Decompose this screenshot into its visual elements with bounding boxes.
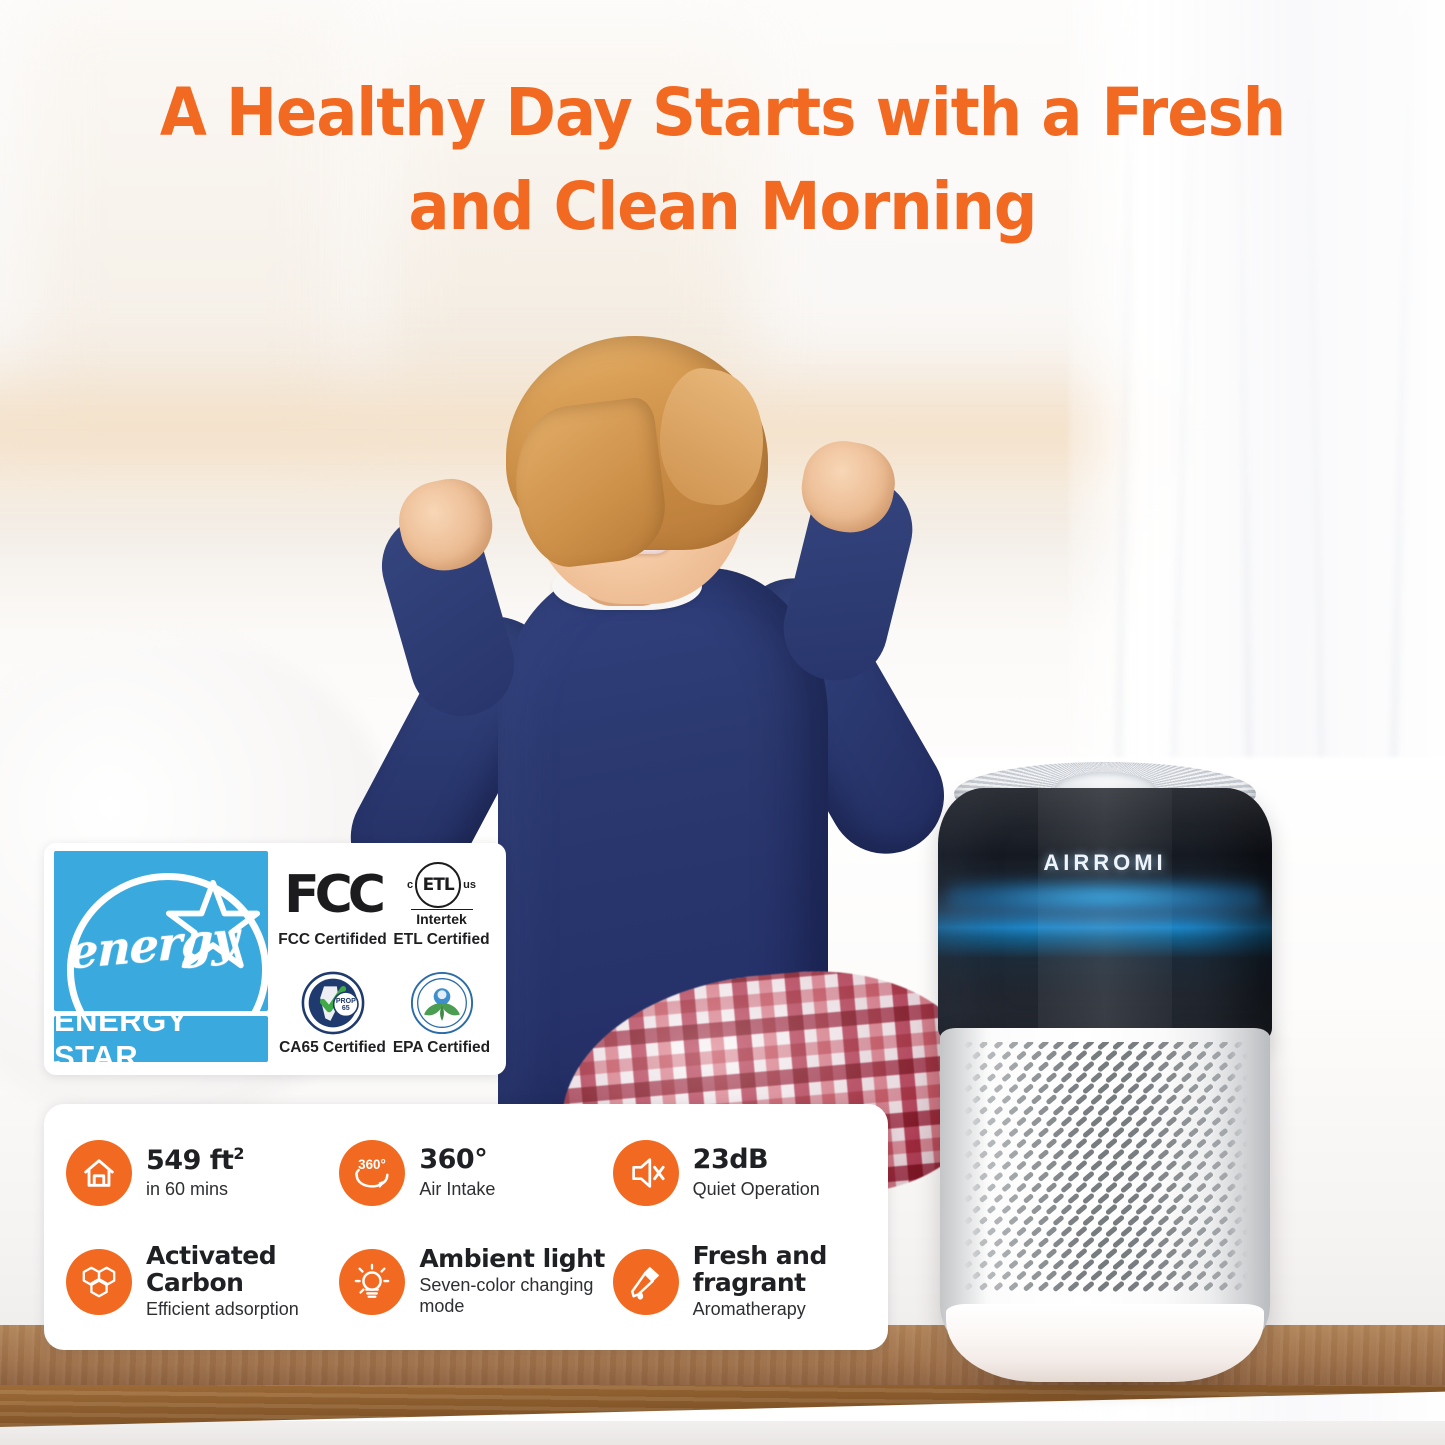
purifier-vent-slot bbox=[1045, 1094, 1057, 1105]
purifier-vent-slot bbox=[1082, 1280, 1095, 1292]
purifier-vent-slot bbox=[1097, 1148, 1110, 1160]
purifier-vent-slot bbox=[1112, 1214, 1125, 1226]
purifier-vent-slot bbox=[1234, 1040, 1243, 1049]
purifier-vent-slot bbox=[1045, 1072, 1057, 1083]
purifier-vent-slot bbox=[1180, 1116, 1192, 1127]
cert-item-epa: EPA Certified bbox=[387, 959, 496, 1067]
prop65-icon: PROP 65 bbox=[301, 970, 365, 1036]
purifier-vent-slot bbox=[1089, 1115, 1102, 1127]
purifier-vent-slot bbox=[1127, 1192, 1140, 1204]
purifier-vent-slot bbox=[979, 1128, 988, 1137]
purifier-vent-slot bbox=[1015, 1182, 1026, 1193]
purifier-vent-slot bbox=[1241, 1227, 1250, 1236]
purifier-vent-slot bbox=[1127, 1104, 1140, 1116]
purifier-vent-slot bbox=[1195, 1204, 1206, 1215]
purifier-vent-slot bbox=[979, 1238, 988, 1247]
purifier-vent-row bbox=[962, 1240, 1248, 1249]
purifier-vent-slot bbox=[1112, 1258, 1125, 1270]
purifier-vent-slot bbox=[1234, 1238, 1243, 1247]
purifier-vent-slot bbox=[1023, 1149, 1034, 1160]
purifier-vent-slot bbox=[1218, 1194, 1228, 1204]
purifier-vent-slot bbox=[1067, 1281, 1080, 1293]
purifier-vent-slot bbox=[1211, 1183, 1221, 1193]
purifier-vent-slot bbox=[1119, 1247, 1132, 1259]
purifier-vent-slot bbox=[1165, 1226, 1177, 1237]
purifier-vent-slot bbox=[986, 1161, 996, 1170]
feature-title: Fresh and fragrant bbox=[693, 1243, 882, 1296]
purifier-vent-slot bbox=[1211, 1271, 1221, 1281]
purifier-vent-slot bbox=[993, 1260, 1003, 1270]
purifier-vent-slot bbox=[1241, 1249, 1250, 1258]
purifier-vent-slot bbox=[1180, 1072, 1192, 1083]
intertek-label: Intertek bbox=[411, 909, 473, 927]
purifier-vent-slot bbox=[1195, 1182, 1206, 1193]
purifier-vent-slot bbox=[1218, 1150, 1228, 1160]
purifier-vent-slot bbox=[1188, 1171, 1199, 1182]
purifier-vent-slot bbox=[1211, 1073, 1221, 1083]
purifier-vent-slot bbox=[1001, 1161, 1011, 1171]
feature-subtitle: Seven-color changing mode bbox=[419, 1275, 608, 1317]
purifier-vent-slot bbox=[1165, 1248, 1177, 1259]
purifier-vent-slot bbox=[1008, 1215, 1019, 1225]
purifier-vent-slot bbox=[1097, 1258, 1110, 1270]
purifier-vent-slot bbox=[1097, 1038, 1110, 1050]
purifier-vent-slot bbox=[1045, 1160, 1057, 1171]
purifier-vent-slot bbox=[1165, 1116, 1177, 1127]
purifier-vent-slot bbox=[1195, 1226, 1206, 1237]
energy-star-icon bbox=[165, 877, 261, 973]
purifier-vent-slot bbox=[1097, 1236, 1110, 1248]
purifier-vent-slot bbox=[1211, 1139, 1221, 1149]
feature-subtitle: Aromatherapy bbox=[693, 1299, 882, 1320]
purifier-vent-slot bbox=[1188, 1039, 1199, 1050]
purifier-vent-slot bbox=[1249, 1040, 1258, 1048]
purifier-vent-slot bbox=[1052, 1149, 1064, 1161]
purifier-vent-slot bbox=[1097, 1192, 1110, 1204]
purifier-vent-slot bbox=[1052, 1193, 1064, 1205]
purifier-vent-slot bbox=[1015, 1094, 1026, 1105]
purifier-vent-slot bbox=[1203, 1215, 1214, 1225]
dropper-icon bbox=[613, 1249, 679, 1315]
purifier-vent-slot bbox=[1234, 1282, 1243, 1291]
purifier-vent-slot bbox=[1157, 1105, 1169, 1117]
purifier-vent-slot bbox=[1045, 1270, 1057, 1281]
purifier-vent-slot bbox=[1075, 1182, 1088, 1194]
purifier-vent-slot bbox=[1104, 1203, 1117, 1215]
purifier-vent-slot bbox=[1112, 1192, 1125, 1204]
purifier-vent-slot bbox=[1082, 1170, 1095, 1182]
purifier-vent-slot bbox=[1142, 1039, 1155, 1051]
purifier-vent-slot bbox=[1067, 1039, 1080, 1051]
purifier-vent-slot bbox=[1218, 1106, 1228, 1116]
purifier-vent-slot bbox=[1249, 1150, 1258, 1158]
purifier-vent-slot bbox=[1127, 1148, 1140, 1160]
purifier-vent-slot bbox=[1089, 1203, 1102, 1215]
purifier-vent-slot bbox=[986, 1249, 996, 1258]
purifier-vent-slot bbox=[1234, 1062, 1243, 1071]
purifier-vent-slot bbox=[1249, 1260, 1258, 1268]
purifier-vent-slot bbox=[1195, 1116, 1206, 1127]
purifier-vent-slot bbox=[1188, 1149, 1199, 1160]
purifier-vent-slot bbox=[1226, 1161, 1236, 1170]
purifier-vent-slot bbox=[1038, 1259, 1050, 1270]
purifier-vent-slot bbox=[1249, 1216, 1258, 1224]
purifier-vent-slot bbox=[1142, 1127, 1155, 1139]
purifier-vent-slot bbox=[979, 1216, 988, 1225]
purifier-vent-slot bbox=[986, 1117, 996, 1126]
purifier-vent-slot bbox=[1142, 1105, 1155, 1117]
purifier-vent-slot bbox=[1211, 1161, 1221, 1171]
purifier-vent-slot bbox=[1023, 1061, 1034, 1072]
purifier-vent-slot bbox=[1226, 1117, 1236, 1126]
purifier-vent-slot bbox=[1104, 1071, 1117, 1083]
purifier-vent-slot bbox=[1211, 1117, 1221, 1127]
purifier-vent-slot bbox=[1015, 1116, 1026, 1127]
purifier-vent-slot bbox=[1082, 1192, 1095, 1204]
purifier-vent-slot bbox=[1023, 1281, 1034, 1292]
feature-subtitle: in 60 mins bbox=[146, 1179, 244, 1200]
feature-coverage-area: 549 ft2 in 60 mins bbox=[66, 1120, 335, 1225]
purifier-vent-slot bbox=[1218, 1238, 1228, 1248]
feature-360-air-intake: 360° 360° Air Intake bbox=[339, 1120, 608, 1225]
purifier-vent-slot bbox=[1234, 1172, 1243, 1181]
purifier-vent-slot bbox=[1015, 1226, 1026, 1237]
purifier-vent-slot bbox=[1173, 1171, 1185, 1182]
purifier-vent-slot bbox=[1060, 1270, 1073, 1282]
purifier-vent-slot bbox=[1249, 1084, 1258, 1092]
purifier-vent-slot bbox=[979, 1172, 988, 1181]
purifier-vent-slot bbox=[1188, 1281, 1199, 1292]
purifier-vent-slot bbox=[1067, 1193, 1080, 1205]
purifier-vent-slot bbox=[1173, 1281, 1185, 1292]
purifier-vent-slot bbox=[1157, 1237, 1169, 1249]
purifier-vent-slot bbox=[1060, 1072, 1073, 1084]
purifier-vent-slot bbox=[1038, 1105, 1050, 1116]
purifier-vent-slot bbox=[1180, 1270, 1192, 1281]
purifier-vent-row bbox=[962, 1152, 1248, 1161]
purifier-vent-slot bbox=[1180, 1138, 1192, 1149]
purifier-vent-slot bbox=[1119, 1115, 1132, 1127]
purifier-vent-slot bbox=[1008, 1259, 1019, 1269]
ca65-caption: CA65 Certified bbox=[279, 1039, 386, 1057]
purifier-vent-slot bbox=[1249, 1238, 1258, 1246]
purifier-vent-slot bbox=[1180, 1248, 1192, 1259]
fcc-caption: FCC Certifided bbox=[278, 931, 387, 949]
purifier-vent-slot bbox=[1218, 1040, 1228, 1050]
purifier-vent-slot bbox=[1211, 1205, 1221, 1215]
feature-subtitle: Efficient adsorption bbox=[146, 1299, 335, 1320]
purifier-vent-slot bbox=[1119, 1181, 1132, 1193]
purifier-vent-slot bbox=[1008, 1237, 1019, 1247]
rotate-360-icon: 360° bbox=[339, 1140, 405, 1206]
feature-title: 360° bbox=[419, 1145, 495, 1175]
purifier-vent-slot bbox=[1249, 1062, 1258, 1070]
purifier-vent-slot bbox=[1226, 1051, 1236, 1060]
purifier-vent-slot bbox=[1135, 1159, 1148, 1171]
air-purifier-product: AIRROMI bbox=[930, 762, 1280, 1382]
purifier-vent-slot bbox=[1173, 1149, 1185, 1160]
purifier-vent-slot bbox=[1241, 1271, 1250, 1280]
purifier-vent-slot bbox=[1142, 1149, 1155, 1161]
purifier-vent-slot bbox=[1001, 1183, 1011, 1193]
purifier-vent-slot bbox=[971, 1183, 980, 1192]
purifier-vent-slot bbox=[1075, 1226, 1088, 1238]
purifier-vent-slot bbox=[1203, 1105, 1214, 1115]
feature-quiet-operation: 23dB Quiet Operation bbox=[613, 1120, 882, 1225]
purifier-vent-slot bbox=[1060, 1226, 1073, 1238]
purifier-vent-slot bbox=[1104, 1225, 1117, 1237]
purifier-vent-slot bbox=[1218, 1062, 1228, 1072]
purifier-vent-slot bbox=[1097, 1104, 1110, 1116]
purifier-vent-slot bbox=[1075, 1116, 1088, 1128]
cert-item-ca65: PROP 65 CA65 Certified bbox=[278, 959, 387, 1067]
purifier-vent-slot bbox=[1038, 1039, 1050, 1050]
purifier-vent-slot bbox=[1188, 1259, 1199, 1270]
purifier-vent-slot bbox=[1211, 1249, 1221, 1259]
purifier-vent-slot bbox=[1195, 1248, 1206, 1259]
purifier-vent-slot bbox=[1023, 1259, 1034, 1270]
purifier-vent-slot bbox=[1082, 1148, 1095, 1160]
purifier-vent-slot bbox=[1203, 1039, 1214, 1049]
purifier-vent-slot bbox=[1104, 1247, 1117, 1259]
purifier-vent-slot bbox=[1030, 1094, 1042, 1105]
purifier-vent-slot bbox=[1157, 1215, 1169, 1227]
purifier-vent-slot bbox=[1150, 1138, 1163, 1150]
purifier-vent-slot bbox=[1218, 1172, 1228, 1182]
purifier-vent-slot bbox=[986, 1095, 996, 1104]
purifier-vent-slot bbox=[979, 1260, 988, 1269]
purifier-vent-row bbox=[962, 1086, 1248, 1095]
purifier-vent-slot bbox=[1226, 1183, 1236, 1192]
purifier-vent-slot bbox=[1104, 1137, 1117, 1149]
purifier-vent-slot bbox=[1038, 1083, 1050, 1094]
purifier-vent-slot bbox=[1234, 1216, 1243, 1225]
purifier-vent-slot bbox=[1135, 1225, 1148, 1237]
purifier-vent-slot bbox=[1203, 1061, 1214, 1071]
purifier-vent-slot bbox=[1135, 1181, 1148, 1193]
purifier-vent-slot bbox=[971, 1051, 980, 1060]
purifier-vent-slot bbox=[971, 1139, 980, 1148]
purifier-vent-slot bbox=[971, 1095, 980, 1104]
purifier-vent-slot bbox=[1104, 1093, 1117, 1105]
purifier-vent-slot bbox=[1030, 1050, 1042, 1061]
purifier-vent-slot bbox=[1241, 1139, 1250, 1148]
purifier-vent-slot bbox=[1150, 1204, 1163, 1216]
purifier-vent-row bbox=[962, 1042, 1248, 1051]
purifier-vent-slot bbox=[1045, 1182, 1057, 1193]
purifier-vent-slot bbox=[1203, 1149, 1214, 1159]
purifier-vent-slot bbox=[993, 1106, 1003, 1116]
purifier-vent-slot bbox=[1173, 1237, 1185, 1248]
purifier-vent-slot bbox=[1241, 1161, 1250, 1170]
purifier-vent-slot bbox=[1150, 1182, 1163, 1194]
purifier-vent-row bbox=[962, 1064, 1248, 1073]
purifier-vent-slot bbox=[1157, 1127, 1169, 1139]
purifier-vent-slot bbox=[1188, 1237, 1199, 1248]
purifier-vent-slot bbox=[1188, 1061, 1199, 1072]
purifier-vent-slot bbox=[1135, 1269, 1148, 1281]
purifier-vent-slot bbox=[1165, 1138, 1177, 1149]
product-marketing-image: AIRROMI A Healthy Day Starts with a Fres… bbox=[0, 0, 1445, 1445]
purifier-vent-row bbox=[962, 1130, 1248, 1139]
purifier-vent-slot bbox=[1249, 1106, 1258, 1114]
feature-subtitle: Quiet Operation bbox=[693, 1179, 820, 1200]
purifier-vent-slot bbox=[986, 1227, 996, 1236]
purifier-vent-slot bbox=[1052, 1061, 1064, 1073]
purifier-vent-slot bbox=[1060, 1248, 1073, 1260]
purifier-vent-slot bbox=[1075, 1270, 1088, 1282]
fcc-mark-text: FCC bbox=[284, 869, 381, 921]
purifier-vent-slot bbox=[1023, 1083, 1034, 1094]
purifier-vent-slot bbox=[1127, 1214, 1140, 1226]
purifier-vent-slot bbox=[1082, 1104, 1095, 1116]
purifier-vent-slot bbox=[1075, 1072, 1088, 1084]
purifier-vent-row bbox=[962, 1174, 1248, 1183]
purifier-vent-slot bbox=[1234, 1150, 1243, 1159]
purifier-vent-slot bbox=[1241, 1051, 1250, 1060]
purifier-vent-slot bbox=[1089, 1049, 1102, 1061]
purifier-vent-slot bbox=[1082, 1038, 1095, 1050]
purifier-vent-slot bbox=[1030, 1204, 1042, 1215]
etl-circle-mark: ETL bbox=[415, 862, 461, 908]
purifier-vent-slot bbox=[1008, 1127, 1019, 1137]
purifier-vent-slot bbox=[1023, 1105, 1034, 1116]
purifier-vent-slot bbox=[1226, 1139, 1236, 1148]
purifier-vent-slot bbox=[1142, 1193, 1155, 1205]
purifier-vent-slot bbox=[1119, 1071, 1132, 1083]
purifier-vent-slot bbox=[1142, 1215, 1155, 1227]
purifier-vent-slot bbox=[993, 1194, 1003, 1204]
purifier-vent-slot bbox=[1135, 1049, 1148, 1061]
purifier-vent-slot bbox=[1067, 1259, 1080, 1271]
purifier-vent-slot bbox=[1023, 1039, 1034, 1050]
purifier-vent-slot bbox=[1127, 1082, 1140, 1094]
purifier-vent-slot bbox=[979, 1084, 988, 1093]
purifier-vent-slot bbox=[1082, 1082, 1095, 1094]
purifier-vent-slot bbox=[1001, 1271, 1011, 1281]
purifier-vent-slot bbox=[979, 1150, 988, 1159]
purifier-vent-row bbox=[962, 1284, 1248, 1293]
purifier-vent-slot bbox=[1127, 1280, 1140, 1292]
purifier-vent-slot bbox=[1180, 1160, 1192, 1171]
brand-logo-text: AIRROMI bbox=[930, 850, 1280, 876]
purifier-vent-slot bbox=[1030, 1248, 1042, 1259]
purifier-vent-slot bbox=[1089, 1181, 1102, 1193]
purifier-vent-slot bbox=[1038, 1281, 1050, 1292]
purifier-vent-slot bbox=[1030, 1116, 1042, 1127]
purifier-vent-slot bbox=[1067, 1083, 1080, 1095]
purifier-vent-slot bbox=[1038, 1171, 1050, 1182]
purifier-vent-slot bbox=[1015, 1160, 1026, 1171]
purifier-vent-slot bbox=[1097, 1214, 1110, 1226]
purifier-vent-slot bbox=[964, 1238, 973, 1246]
feature-title: Activated Carbon bbox=[146, 1243, 335, 1296]
purifier-vent-slot bbox=[1135, 1115, 1148, 1127]
purifier-vent-slot bbox=[1211, 1095, 1221, 1105]
purifier-vent-slot bbox=[964, 1106, 973, 1114]
purifier-vent-slot bbox=[1038, 1127, 1050, 1138]
purifier-upper-dark-shell bbox=[938, 788, 1272, 1046]
purifier-vent-slot bbox=[1015, 1270, 1026, 1281]
purifier-vent-slot bbox=[1234, 1084, 1243, 1093]
purifier-vent-slot bbox=[1060, 1050, 1073, 1062]
purifier-vent-slot bbox=[1249, 1282, 1258, 1290]
purifier-vent-slot bbox=[1180, 1050, 1192, 1061]
purifier-vent-slot bbox=[1082, 1214, 1095, 1226]
energy-star-logo: energy ENERGY STAR bbox=[54, 851, 268, 1065]
purifier-vent-slot bbox=[1157, 1149, 1169, 1161]
purifier-vent-row bbox=[962, 1196, 1248, 1205]
purifier-vent-slot bbox=[979, 1194, 988, 1203]
purifier-vent-slot bbox=[986, 1051, 996, 1060]
purifier-vent-slot bbox=[979, 1282, 988, 1291]
purifier-vent-slot bbox=[1075, 1248, 1088, 1260]
epa-icon bbox=[410, 970, 474, 1036]
feature-ambient-light: Ambient light Seven-color changing mode bbox=[339, 1229, 608, 1334]
etl-icon: c ETL us Intertek bbox=[407, 862, 476, 928]
purifier-vent-slot bbox=[1023, 1215, 1034, 1226]
purifier-vent-slot bbox=[1226, 1249, 1236, 1258]
purifier-vent-slot bbox=[964, 1040, 973, 1048]
purifier-vent-slot bbox=[1173, 1215, 1185, 1226]
purifier-vent-slot bbox=[964, 1150, 973, 1158]
purifier-vent-slot bbox=[1023, 1127, 1034, 1138]
purifier-vent-slot bbox=[1001, 1073, 1011, 1083]
purifier-vent-slot bbox=[1001, 1095, 1011, 1105]
feature-title: 23dB bbox=[693, 1145, 820, 1175]
purifier-vent-slot bbox=[1157, 1281, 1169, 1293]
purifier-vent-slot bbox=[1203, 1237, 1214, 1247]
purifier-vent-slot bbox=[1067, 1105, 1080, 1117]
purifier-vent-slot bbox=[1030, 1182, 1042, 1193]
purifier-vent-slot bbox=[1052, 1171, 1064, 1183]
energy-star-wordmark: ENERGY STAR bbox=[54, 1016, 268, 1062]
purifier-vent-slot bbox=[1165, 1050, 1177, 1061]
lightbulb-icon bbox=[339, 1249, 405, 1315]
floor bbox=[0, 1421, 1445, 1445]
purifier-vent-slot bbox=[1195, 1160, 1206, 1171]
purifier-vent-slot bbox=[1150, 1094, 1163, 1106]
purifier-vent-slot bbox=[1211, 1051, 1221, 1061]
purifier-vent-slot bbox=[1188, 1105, 1199, 1116]
purifier-vent-slot bbox=[1008, 1171, 1019, 1181]
purifier-vent-slot bbox=[1119, 1159, 1132, 1171]
purifier-vent-slot bbox=[1008, 1083, 1019, 1093]
purifier-vent-slot bbox=[1082, 1126, 1095, 1138]
purifier-vent-slot bbox=[1052, 1083, 1064, 1095]
purifier-vent-slot bbox=[1127, 1060, 1140, 1072]
purifier-vent-slot bbox=[1142, 1061, 1155, 1073]
purifier-base bbox=[946, 1304, 1264, 1382]
purifier-vent-slot bbox=[1119, 1269, 1132, 1281]
purifier-vent-slot bbox=[1249, 1194, 1258, 1202]
purifier-vent-slot bbox=[1157, 1171, 1169, 1183]
purifier-vent-slot bbox=[1203, 1171, 1214, 1181]
purifier-vent-slot bbox=[1241, 1095, 1250, 1104]
purifier-vent-slot bbox=[1112, 1280, 1125, 1292]
feature-aromatherapy: Fresh and fragrant Aromatherapy bbox=[613, 1229, 882, 1334]
purifier-vent-slot bbox=[1104, 1269, 1117, 1281]
purifier-vent-slot bbox=[1104, 1115, 1117, 1127]
purifier-vent-slot bbox=[1045, 1204, 1057, 1215]
purifier-vent-slot bbox=[1008, 1105, 1019, 1115]
purifier-vent-slot bbox=[1097, 1060, 1110, 1072]
purifier-vent-slot bbox=[1195, 1072, 1206, 1083]
purifier-vent-slot bbox=[1008, 1061, 1019, 1071]
purifier-vent-slot bbox=[1127, 1126, 1140, 1138]
purifier-vent-slot bbox=[1015, 1072, 1026, 1083]
svg-text:65: 65 bbox=[341, 1005, 349, 1012]
